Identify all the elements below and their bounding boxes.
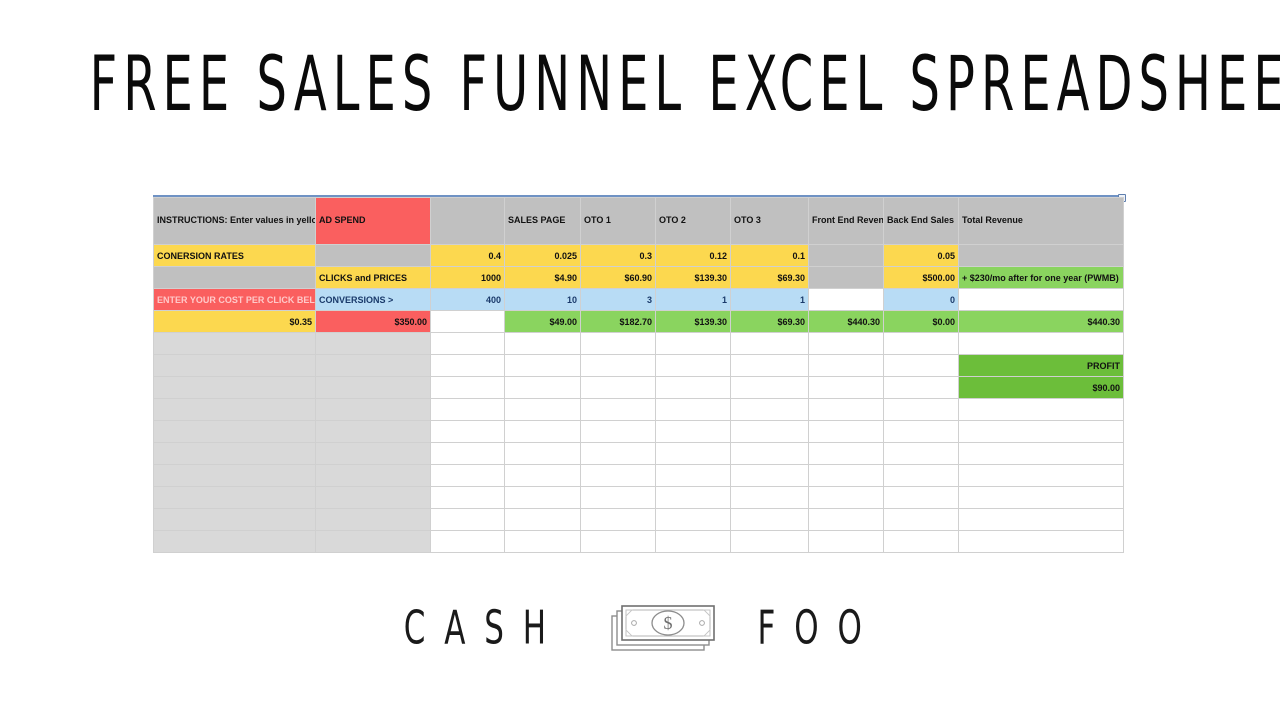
table-row-empty[interactable] [154,399,1124,421]
cell-empty[interactable] [431,509,505,531]
cell-empty[interactable] [809,333,884,355]
cell-clicks-prices-total-revenue[interactable]: + $230/mo after for one year (PWMB) [959,267,1124,289]
cell-empty[interactable] [731,487,809,509]
cell-revenue-oto3[interactable]: $69.30 [731,311,809,333]
cell-header-oto1[interactable]: OTO 1 [581,198,656,245]
cell-empty[interactable] [431,421,505,443]
cell-empty[interactable] [656,421,731,443]
cell-profit-value[interactable]: $90.00 [959,377,1124,399]
table-row-revenue[interactable]: $0.35 $350.00 $49.00 $182.70 $139.30 $69… [154,311,1124,333]
table-row-conversions[interactable]: ENTER YOUR COST PER CLICK BELOW CONVERSI… [154,289,1124,311]
table-row-profit-value[interactable]: $90.00 [154,377,1124,399]
cell-empty[interactable] [505,421,581,443]
cell-empty[interactable] [154,333,316,355]
cell-empty[interactable] [959,421,1124,443]
cell-empty[interactable] [154,421,316,443]
cell-empty[interactable] [431,377,505,399]
cell-conversions-back-end-sales[interactable]: 0 [884,289,959,311]
cell-empty[interactable] [316,487,431,509]
cell-empty[interactable] [884,399,959,421]
cell-empty[interactable] [154,509,316,531]
cell-empty[interactable] [581,421,656,443]
cell-empty[interactable] [431,465,505,487]
table-row-empty[interactable] [154,443,1124,465]
cell-header-ad-spend[interactable]: AD SPEND [316,198,431,245]
cell-clicks-prices-oto1[interactable]: $60.90 [581,267,656,289]
slide-canvas: FREE SALES FUNNEL EXCEL SPREADSHEET! INS… [0,0,1280,720]
cell-empty[interactable] [505,531,581,553]
cell-empty[interactable] [884,377,959,399]
cell-empty[interactable] [959,443,1124,465]
cell-conversion-rates-label[interactable]: CONERSION RATES [154,245,316,267]
cell-empty[interactable] [316,443,431,465]
cell-empty[interactable] [884,465,959,487]
cell-empty[interactable] [505,443,581,465]
table-row-conversion-rates[interactable]: CONERSION RATES 0.4 0.025 0.3 0.12 0.1 0… [154,245,1124,267]
cell-empty[interactable] [431,487,505,509]
cell-empty[interactable] [505,487,581,509]
cell-header-sales-page[interactable]: SALES PAGE [505,198,581,245]
cell-empty[interactable] [959,531,1124,553]
cell-empty[interactable] [884,421,959,443]
brand-word-right: FOO [758,603,881,654]
cell-empty[interactable] [581,443,656,465]
cell-empty[interactable] [431,531,505,553]
cell-revenue-traffic[interactable] [431,311,505,333]
table-row-empty[interactable] [154,333,1124,355]
cell-header-oto2[interactable]: OTO 2 [656,198,731,245]
cell-header-traffic[interactable] [431,198,505,245]
cell-empty[interactable] [959,465,1124,487]
cell-empty[interactable] [884,333,959,355]
cell-revenue-ad-spend[interactable]: $350.00 [316,311,431,333]
cell-empty[interactable] [959,333,1124,355]
cell-empty[interactable] [316,377,431,399]
cell-header-oto3[interactable]: OTO 3 [731,198,809,245]
cell-empty[interactable] [431,443,505,465]
cell-profit-label[interactable]: PROFIT [959,355,1124,377]
cell-empty[interactable] [505,465,581,487]
cell-empty[interactable] [731,443,809,465]
cell-empty[interactable] [656,487,731,509]
cell-empty[interactable] [154,377,316,399]
cell-header-total-revenue[interactable]: Total Revenue [959,198,1124,245]
cell-empty[interactable] [884,443,959,465]
cell-empty[interactable] [959,487,1124,509]
svg-text:$: $ [664,613,673,633]
cell-revenue-back-end-sales[interactable]: $0.00 [884,311,959,333]
cell-empty[interactable] [154,531,316,553]
table-row-empty[interactable] [154,487,1124,509]
page-title: FREE SALES FUNNEL EXCEL SPREADSHEET! [90,39,1191,129]
cell-empty[interactable] [505,333,581,355]
cell-empty[interactable] [656,399,731,421]
cell-clicks-prices-label[interactable] [154,267,316,289]
cell-empty[interactable] [316,421,431,443]
cell-header-back-end-sales[interactable]: Back End Sales [884,198,959,245]
cell-conversions-oto3[interactable]: 1 [731,289,809,311]
cell-empty[interactable] [581,487,656,509]
cell-empty[interactable] [656,333,731,355]
cell-empty[interactable] [809,377,884,399]
cell-empty[interactable] [431,355,505,377]
cell-empty[interactable] [581,377,656,399]
cell-clicks-prices-sales-page[interactable]: $4.90 [505,267,581,289]
cell-empty[interactable] [154,465,316,487]
cell-clicks-prices-oto3[interactable]: $69.30 [731,267,809,289]
cell-empty[interactable] [431,399,505,421]
cell-conversions-oto1[interactable]: 3 [581,289,656,311]
cell-empty[interactable] [731,399,809,421]
cell-empty[interactable] [505,399,581,421]
cell-instructions[interactable]: INSTRUCTIONS: Enter values in yellow cel… [154,198,316,245]
cell-conversion-rates-back-end-sales[interactable]: 0.05 [884,245,959,267]
cell-conversions-ad-spend[interactable]: CONVERSIONS > [316,289,431,311]
cell-empty[interactable] [581,355,656,377]
cell-empty[interactable] [154,443,316,465]
cell-cost-per-click-value[interactable]: $0.35 [154,311,316,333]
cell-empty[interactable] [884,531,959,553]
cell-empty[interactable] [884,487,959,509]
cell-empty[interactable] [809,465,884,487]
cell-header-front-end-revenue[interactable]: Front End Revenue [809,198,884,245]
cell-empty[interactable] [809,443,884,465]
cell-empty[interactable] [731,531,809,553]
cell-empty[interactable] [316,465,431,487]
cell-clicks-prices-front-end-revenue[interactable] [809,267,884,289]
cell-enter-cost-per-click-note[interactable]: ENTER YOUR COST PER CLICK BELOW [154,289,316,311]
cell-empty[interactable] [731,377,809,399]
cell-revenue-sales-page[interactable]: $49.00 [505,311,581,333]
cell-empty[interactable] [656,377,731,399]
cell-conversion-rates-total-revenue[interactable] [959,245,1124,267]
cell-empty[interactable] [505,355,581,377]
cell-clicks-prices-traffic[interactable]: 1000 [431,267,505,289]
cell-empty[interactable] [731,333,809,355]
cell-empty[interactable] [731,509,809,531]
table-row-empty[interactable] [154,421,1124,443]
cell-clicks-prices-ad-spend[interactable]: CLICKS and PRICES [316,267,431,289]
cell-conversion-rates-ad-spend[interactable] [316,245,431,267]
cell-empty[interactable] [581,465,656,487]
cell-empty[interactable] [731,355,809,377]
table-row-profit-label[interactable]: PROFIT [154,355,1124,377]
cell-empty[interactable] [656,443,731,465]
cell-empty[interactable] [656,531,731,553]
cell-empty[interactable] [581,531,656,553]
cell-conversion-rates-oto1[interactable]: 0.3 [581,245,656,267]
table-row-empty[interactable] [154,465,1124,487]
cell-empty[interactable] [656,465,731,487]
cell-empty[interactable] [731,465,809,487]
cell-revenue-total-revenue[interactable]: $440.30 [959,311,1124,333]
cell-conversion-rates-front-end-revenue[interactable] [809,245,884,267]
cell-empty[interactable] [809,509,884,531]
cell-conversion-rates-oto2[interactable]: 0.12 [656,245,731,267]
cell-conversion-rates-oto3[interactable]: 0.1 [731,245,809,267]
cell-empty[interactable] [316,333,431,355]
cell-clicks-prices-oto2[interactable]: $139.30 [656,267,731,289]
cell-empty[interactable] [809,421,884,443]
sales-funnel-spreadsheet[interactable]: INSTRUCTIONS: Enter values in yellow cel… [153,197,1124,553]
cell-empty[interactable] [316,399,431,421]
cell-revenue-front-end-revenue[interactable]: $440.30 [809,311,884,333]
cell-empty[interactable] [581,509,656,531]
cell-empty[interactable] [731,421,809,443]
cell-empty[interactable] [809,487,884,509]
cell-empty[interactable] [581,333,656,355]
cell-empty[interactable] [316,355,431,377]
table-row-empty[interactable] [154,531,1124,553]
brand-footer: CASH $ FOO [0,600,1280,656]
cell-conversions-oto2[interactable]: 1 [656,289,731,311]
cell-empty[interactable] [656,509,731,531]
cell-empty[interactable] [809,531,884,553]
cell-empty[interactable] [884,509,959,531]
cell-empty[interactable] [154,487,316,509]
cell-empty[interactable] [154,399,316,421]
table-row-clicks-and-prices[interactable]: CLICKS and PRICES 1000 $4.90 $60.90 $139… [154,267,1124,289]
cell-empty[interactable] [505,509,581,531]
cell-empty[interactable] [581,399,656,421]
cell-empty[interactable] [656,355,731,377]
cell-conversions-total-revenue[interactable] [959,289,1124,311]
cell-empty[interactable] [809,399,884,421]
cell-revenue-oto1[interactable]: $182.70 [581,311,656,333]
cell-empty[interactable] [884,355,959,377]
table-row-empty[interactable] [154,509,1124,531]
cell-empty[interactable] [431,333,505,355]
cell-empty[interactable] [809,355,884,377]
cell-revenue-oto2[interactable]: $139.30 [656,311,731,333]
cell-empty[interactable] [959,509,1124,531]
table-row-header[interactable]: INSTRUCTIONS: Enter values in yellow cel… [154,198,1124,245]
cell-conversions-traffic[interactable]: 400 [431,289,505,311]
cell-conversions-sales-page[interactable]: 10 [505,289,581,311]
cell-empty[interactable] [316,531,431,553]
cell-conversion-rates-traffic[interactable]: 0.4 [431,245,505,267]
cell-empty[interactable] [505,377,581,399]
cell-empty[interactable] [316,509,431,531]
cell-empty[interactable] [154,355,316,377]
cell-conversions-front-end-revenue[interactable] [809,289,884,311]
cell-empty[interactable] [959,399,1124,421]
cell-conversion-rates-sales-page[interactable]: 0.025 [505,245,581,267]
brand-word-left: CASH [403,603,564,654]
cell-clicks-prices-back-end-sales[interactable]: $500.00 [884,267,959,289]
money-stack-icon: $ [608,600,718,656]
